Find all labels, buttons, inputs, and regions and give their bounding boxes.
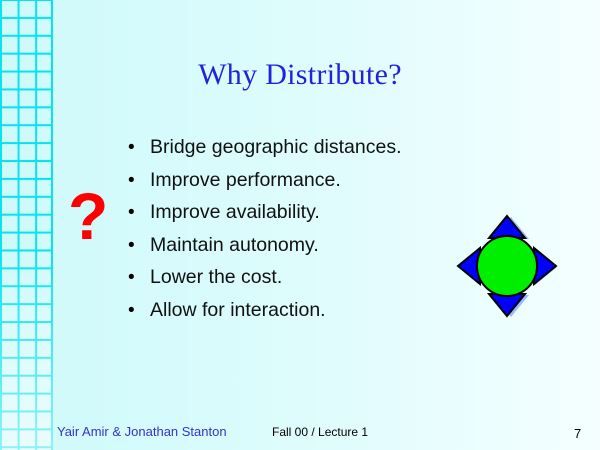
question-mark-icon: ? [68,183,108,249]
slide-title: Why Distribute? [0,58,600,92]
list-item-label: Allow for interaction. [150,299,326,322]
list-item: • Lower the cost. [128,266,478,299]
list-item-label: Maintain autonomy. [150,234,319,257]
bullet-list: • Bridge geographic distances. • Improve… [128,136,478,332]
bullet-marker-icon: • [128,203,150,222]
list-item: • Maintain autonomy. [128,234,478,267]
list-item: • Bridge geographic distances. [128,136,478,169]
bullet-marker-icon: • [128,268,150,287]
list-item-label: Improve availability. [150,201,320,224]
footer-authors: Yair Amir & Jonathan Stanton [57,424,227,439]
list-item: • Allow for interaction. [128,299,478,332]
list-item-label: Improve performance. [150,169,341,192]
bullet-marker-icon: • [128,138,150,157]
slide-canvas: Why Distribute? ? • Bridge geographic di… [0,0,600,450]
list-item-label: Bridge geographic distances. [150,136,402,159]
list-item-label: Lower the cost. [150,266,282,289]
footer-lecture-label: Fall 00 / Lecture 1 [272,425,368,439]
bullet-marker-icon: • [128,236,150,255]
four-way-arrows-icon [455,213,561,321]
page-number: 7 [574,426,581,441]
list-item: • Improve availability. [128,201,478,234]
bullet-marker-icon: • [128,301,150,320]
bullet-marker-icon: • [128,171,150,190]
list-item: • Improve performance. [128,169,478,202]
